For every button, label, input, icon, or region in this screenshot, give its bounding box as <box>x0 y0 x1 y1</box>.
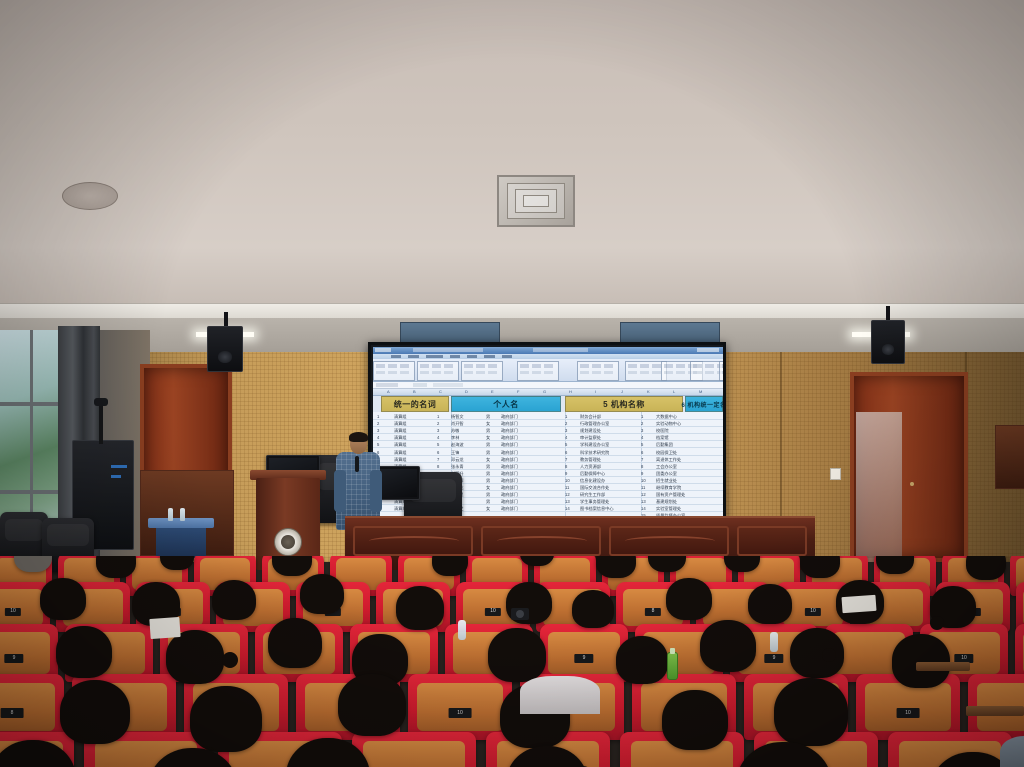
ribbon-control[interactable] <box>388 364 397 368</box>
audience-member-head <box>966 556 1006 580</box>
cell[interactable]: 清算组 <box>394 420 407 427</box>
ceiling <box>0 0 1024 330</box>
ribbon-control[interactable] <box>722 364 723 368</box>
cell[interactable]: 国有资产管理处 <box>656 491 685 498</box>
cell[interactable]: 2 <box>437 420 439 427</box>
light-switch[interactable] <box>830 468 841 480</box>
cell[interactable]: 科学技术研究院 <box>580 449 609 456</box>
ribbon-control[interactable] <box>693 364 702 368</box>
auditorium-seat[interactable] <box>352 732 476 767</box>
cell[interactable]: 11 <box>641 484 645 491</box>
cell[interactable]: 12 <box>641 491 646 498</box>
cell[interactable]: 7 <box>437 456 439 463</box>
audience-member-head <box>300 574 344 614</box>
notebook-paper <box>149 617 180 639</box>
cell[interactable]: 男 <box>486 441 490 448</box>
excel-title-bar <box>373 347 723 354</box>
camera-device[interactable] <box>511 608 529 620</box>
column-letter[interactable]: C <box>439 389 442 395</box>
audience-member-head <box>212 580 256 620</box>
seat-number-plate: 9 <box>764 654 783 663</box>
cell[interactable]: 肖开智 <box>451 420 464 427</box>
ribbon-control[interactable] <box>488 371 497 374</box>
cell[interactable]: 清算组 <box>394 427 407 434</box>
cell[interactable]: 审计监察处 <box>580 434 601 441</box>
cell[interactable]: 政府部门 <box>501 491 518 498</box>
cell[interactable]: 基建规划处 <box>656 498 677 505</box>
audience-member-head <box>160 556 194 570</box>
seat-back-pad <box>0 683 55 732</box>
cell[interactable]: 张永青 <box>451 463 464 470</box>
water-bottle-seat-2 <box>770 632 778 652</box>
door-glass-panel <box>856 412 902 562</box>
ribbon-control[interactable] <box>628 364 637 368</box>
ribbon-control[interactable] <box>664 364 673 368</box>
right-shelf <box>995 425 1024 489</box>
cell[interactable]: 校园保卫处 <box>656 449 677 456</box>
cell[interactable]: 3 <box>565 427 567 434</box>
cell[interactable]: 7 <box>641 456 643 463</box>
seat-back-pad <box>417 683 502 732</box>
seat-number-plate: 8 <box>1 708 24 718</box>
ribbon-tab-6[interactable] <box>502 355 512 358</box>
cell[interactable]: 4 <box>437 434 439 441</box>
seat-number-plate: 9 <box>4 654 23 663</box>
ribbon-control[interactable] <box>604 371 613 374</box>
ribbon-control[interactable] <box>432 371 441 374</box>
ribbon-control[interactable] <box>544 364 553 368</box>
cell[interactable]: 政府部门 <box>501 484 518 491</box>
ribbon-control[interactable] <box>420 371 429 374</box>
cell[interactable]: 9 <box>565 470 567 477</box>
ribbon-control[interactable] <box>664 371 673 374</box>
notebook-paper-2 <box>841 595 876 613</box>
cell[interactable]: 5 <box>641 441 643 448</box>
cell[interactable]: 招生就业处 <box>656 477 677 484</box>
seat-back-pad <box>865 683 950 732</box>
column-header-row[interactable]: ABCDEFGHIJKLM <box>373 389 723 396</box>
cell[interactable]: 女 <box>486 434 490 441</box>
seat-back-pad <box>548 632 620 675</box>
auditorium-seat[interactable]: 10 <box>408 674 512 740</box>
auditorium-seat[interactable]: 8 <box>0 674 64 740</box>
cell[interactable]: 4 <box>641 434 643 441</box>
desk-carving-3 <box>625 536 715 546</box>
ribbon-control[interactable] <box>580 371 589 374</box>
audience-member-head <box>268 618 322 668</box>
cell[interactable]: 实验动物中心 <box>656 420 681 427</box>
audience-member-head <box>892 634 950 688</box>
seat-back-pad <box>0 632 50 675</box>
cell[interactable]: 学生事务管理处 <box>580 498 609 505</box>
column-letter[interactable]: D <box>465 389 468 395</box>
formula-bar[interactable] <box>373 382 723 389</box>
cell[interactable]: 男 <box>486 498 490 505</box>
ribbon-control[interactable] <box>705 364 714 368</box>
cell[interactable]: 8 <box>437 463 439 470</box>
cell[interactable]: 政府部门 <box>501 413 518 420</box>
category-header-1: 个人名 <box>451 396 561 412</box>
cell[interactable]: 政府部门 <box>501 434 518 441</box>
column-letter[interactable]: H <box>569 389 572 395</box>
audience-member-head <box>666 578 712 620</box>
cell[interactable]: 10 <box>565 477 570 484</box>
column-letter[interactable]: I <box>595 389 596 395</box>
ribbon-control[interactable] <box>722 371 723 374</box>
cell[interactable]: 8 <box>641 463 643 470</box>
audience-member-head <box>774 678 848 746</box>
seat-number-plate: 10 <box>485 608 501 616</box>
cell[interactable]: 王锋 <box>451 449 459 456</box>
hair-bun <box>822 648 836 662</box>
cell[interactable]: 政府部门 <box>501 441 518 448</box>
audience-member-head <box>662 690 728 750</box>
cell[interactable]: 女 <box>486 484 490 491</box>
cell[interactable]: 政府部门 <box>501 470 518 477</box>
column-letter[interactable]: L <box>673 389 675 395</box>
category-header-2: 5 机构名称 <box>565 396 683 412</box>
cell[interactable]: 5 <box>437 441 439 448</box>
cell[interactable]: 信息化建设办 <box>580 477 605 484</box>
cell[interactable]: 男 <box>486 477 490 484</box>
cell[interactable]: 男 <box>486 491 490 498</box>
cell[interactable]: 人力资源部 <box>580 463 601 470</box>
ribbon-control[interactable] <box>592 371 601 374</box>
ribbon-control[interactable] <box>693 371 702 374</box>
cell[interactable]: 1 <box>565 413 567 420</box>
cell[interactable]: 继续教育学院 <box>656 484 681 491</box>
presenter-arm-right <box>370 470 382 512</box>
ribbon-control[interactable] <box>476 364 485 368</box>
seat-number-plate: 10 <box>449 708 472 718</box>
seat-armrest <box>916 662 970 671</box>
ribbon-control[interactable] <box>444 364 453 368</box>
cell[interactable]: 6 <box>641 449 643 456</box>
door-right[interactable] <box>850 372 968 562</box>
seat-number-plate: 10 <box>805 608 821 616</box>
cell[interactable]: 1 <box>377 413 379 420</box>
ribbon-control[interactable] <box>532 364 541 368</box>
door-knob-icon[interactable] <box>910 482 914 486</box>
audience-member-head <box>396 586 444 630</box>
cell[interactable]: 男 <box>486 449 490 456</box>
cell[interactable]: 后勤保障中心 <box>580 470 605 477</box>
cell[interactable]: 清算组 <box>394 449 407 456</box>
seat-back-pad <box>363 741 465 767</box>
desk-carving-1 <box>369 536 459 546</box>
presenter-hair <box>349 432 368 442</box>
rack-indicator-1 <box>111 465 127 468</box>
column-letter[interactable]: G <box>543 389 546 395</box>
ribbon-control[interactable] <box>676 364 685 368</box>
side-table-legs <box>156 528 206 558</box>
cell[interactable]: 政府部门 <box>501 505 518 512</box>
cell[interactable]: 团委办公室 <box>656 470 677 477</box>
cell[interactable]: 男 <box>486 470 490 477</box>
ribbon-tab-0[interactable] <box>391 355 401 358</box>
audience-member-shoulders <box>520 676 600 714</box>
cell[interactable]: 9 <box>641 470 643 477</box>
desk-panel-4 <box>737 526 807 556</box>
audience-member-head <box>748 584 792 624</box>
cell[interactable]: 10 <box>641 477 646 484</box>
seat-number-plate: 9 <box>574 654 593 663</box>
ribbon-control[interactable] <box>388 371 397 374</box>
ribbon-control[interactable] <box>676 371 685 374</box>
cell[interactable]: 行政管理办公室 <box>580 420 609 427</box>
presenter-arm-left <box>334 470 346 512</box>
rack-indicator-2 <box>111 475 121 478</box>
cell[interactable]: 图书档案信息中心 <box>580 505 614 512</box>
column-letter[interactable]: M <box>699 389 702 395</box>
ribbon-control[interactable] <box>400 371 409 374</box>
cell[interactable]: 男 <box>486 427 490 434</box>
cell[interactable]: 清算组 <box>394 413 407 420</box>
cell[interactable]: 13 <box>641 498 646 505</box>
column-letter[interactable]: B <box>413 389 416 395</box>
cell[interactable]: 清算组 <box>394 441 407 448</box>
ribbon-control[interactable] <box>532 371 541 374</box>
column-letter[interactable]: F <box>517 389 519 395</box>
ribbon-control[interactable] <box>376 364 385 368</box>
cell[interactable]: 邓云龙 <box>451 456 464 463</box>
ribbon-control[interactable] <box>628 371 637 374</box>
cell[interactable]: 7 <box>565 456 567 463</box>
ribbon-tab-2[interactable] <box>426 355 443 358</box>
cell[interactable]: 政府部门 <box>501 498 518 505</box>
cell[interactable]: 1 <box>437 413 439 420</box>
ribbon-tab-5[interactable] <box>484 355 494 358</box>
ribbon-control[interactable] <box>705 371 714 374</box>
ribbon-control[interactable] <box>652 364 661 368</box>
cell[interactable]: 女 <box>486 456 490 463</box>
ribbon-control[interactable] <box>432 364 441 368</box>
ceiling-air-vent-icon <box>497 175 575 227</box>
water-bottle-table-2 <box>180 508 185 521</box>
handheld-microphone[interactable] <box>355 456 359 472</box>
column-letter[interactable]: K <box>647 389 650 395</box>
cell[interactable]: 实验室管理处 <box>656 505 681 512</box>
green-drink-bottle <box>667 652 678 680</box>
ribbon-control[interactable] <box>544 371 553 374</box>
ribbon-tab-1[interactable] <box>408 355 418 358</box>
ribbon-control[interactable] <box>580 364 589 368</box>
ribbon-control[interactable] <box>640 364 649 368</box>
cell[interactable]: 赵海波 <box>451 441 464 448</box>
audience-member-head <box>40 578 86 620</box>
cell[interactable]: 学科建设办公室 <box>580 441 609 448</box>
cell[interactable]: 12 <box>565 491 570 498</box>
cell[interactable]: 政府部门 <box>501 463 518 470</box>
cell[interactable]: 男 <box>486 413 490 420</box>
audience-member-head <box>596 556 636 578</box>
cell[interactable]: 3 <box>377 427 379 434</box>
excel-ribbon[interactable] <box>373 359 723 382</box>
ribbon-control[interactable] <box>444 371 453 374</box>
cell[interactable]: 财务会计部 <box>580 413 601 420</box>
cell[interactable]: 4 <box>565 434 567 441</box>
ribbon-control[interactable] <box>476 371 485 374</box>
seat-armrest-2 <box>966 706 1024 716</box>
cell[interactable]: 2 <box>377 420 379 427</box>
cell[interactable]: 政府部门 <box>501 456 518 463</box>
desk-carving-2 <box>497 536 587 546</box>
cell[interactable]: 女 <box>486 420 490 427</box>
cell[interactable]: 政府部门 <box>501 477 518 484</box>
microphone-stand <box>99 404 103 444</box>
audience-member-head <box>700 620 756 672</box>
cell[interactable]: 男 <box>486 463 490 470</box>
university-seal-icon <box>274 528 302 556</box>
cell[interactable]: 离退休工作处 <box>656 456 681 463</box>
cell[interactable]: 清算组 <box>394 456 407 463</box>
water-bottle-table-1 <box>168 508 173 521</box>
cell[interactable]: 14 <box>641 505 646 512</box>
cell[interactable]: 5 <box>377 441 379 448</box>
category-header-3: 6 机构统一定名 <box>685 396 723 412</box>
cell[interactable]: 6 <box>437 449 439 456</box>
cell[interactable]: 1 <box>641 413 643 420</box>
cell[interactable]: 李林 <box>451 434 459 441</box>
ribbon-control[interactable] <box>520 371 529 374</box>
audience-member-head <box>96 556 136 578</box>
water-bottle-seat <box>458 620 466 640</box>
ceiling-speaker-grille-icon <box>62 182 118 210</box>
cell[interactable]: 女 <box>486 505 490 512</box>
cell[interactable]: 政府部门 <box>501 449 518 456</box>
ribbon-control[interactable] <box>400 364 409 368</box>
cell[interactable]: 3 <box>437 427 439 434</box>
ribbon-control[interactable] <box>488 364 497 368</box>
audience-member-head <box>800 556 840 578</box>
ceiling-speaker-right <box>871 320 905 364</box>
ribbon-control[interactable] <box>376 371 385 374</box>
ribbon-control[interactable] <box>652 371 661 374</box>
cell[interactable]: 清算组 <box>394 434 407 441</box>
column-letter[interactable]: J <box>621 389 623 395</box>
audience-member-head <box>56 626 112 678</box>
audience-seating: 1081010810109910991081010810 <box>0 556 1024 767</box>
audience-member-head <box>60 680 130 744</box>
seat-number-plate: 10 <box>897 708 920 718</box>
ribbon-tab-3[interactable] <box>450 355 460 358</box>
column-letter[interactable]: A <box>387 389 390 395</box>
ribbon-control[interactable] <box>464 371 473 374</box>
cell[interactable]: 国际交流合作处 <box>580 484 609 491</box>
cell[interactable]: 11 <box>565 484 569 491</box>
window-mullion-h2 <box>0 490 66 494</box>
ribbon-control[interactable] <box>640 371 649 374</box>
seat-number-plate: 8 <box>645 608 661 616</box>
cell[interactable]: 工会办公室 <box>656 463 677 470</box>
cell[interactable]: 苏敏 <box>451 427 459 434</box>
cell[interactable]: 6 <box>565 449 567 456</box>
ribbon-control[interactable] <box>604 364 613 368</box>
seat-number-plate: 10 <box>5 608 21 616</box>
seat-back-pad <box>0 589 43 626</box>
ribbon-control[interactable] <box>420 364 429 368</box>
cell[interactable]: 14 <box>565 505 570 512</box>
cell[interactable]: 2 <box>565 420 567 427</box>
cell[interactable]: 大数据中心 <box>656 413 677 420</box>
cell[interactable]: 教务管理处 <box>580 456 601 463</box>
ribbon-control[interactable] <box>520 364 529 368</box>
cell[interactable]: 杨智文 <box>451 413 464 420</box>
audience-member-head <box>190 686 262 752</box>
cell[interactable]: 规划建设处 <box>580 427 601 434</box>
cell[interactable]: 校医院 <box>656 427 669 434</box>
hair-bun <box>930 616 944 630</box>
cell[interactable]: 3 <box>641 427 643 434</box>
audience-member-head <box>166 630 224 684</box>
cell[interactable]: 研究生工作部 <box>580 491 605 498</box>
cell[interactable]: 4 <box>377 434 379 441</box>
ribbon-control[interactable] <box>464 364 473 368</box>
cell[interactable]: 政府部门 <box>501 427 518 434</box>
cell[interactable]: 2 <box>641 420 643 427</box>
column-letter[interactable]: E <box>491 389 494 395</box>
cell[interactable]: 13 <box>565 498 570 505</box>
cell[interactable]: 5 <box>565 441 567 448</box>
audience-member-head <box>488 628 546 682</box>
audience-member-head <box>432 556 468 576</box>
ribbon-tab-4[interactable] <box>467 355 477 358</box>
audience-member-head <box>572 590 614 628</box>
hair-bun <box>388 704 406 722</box>
hair-bun <box>222 652 238 668</box>
cell[interactable]: 后勤集团 <box>656 441 673 448</box>
window-mullion-h <box>0 402 66 406</box>
cell[interactable]: 政府部门 <box>501 420 518 427</box>
cell[interactable]: 8 <box>565 463 567 470</box>
lecture-hall-photo: ABCDEFGHIJKLM 统一的名词个人名5 机构名称6 机构统一定名 1清算… <box>0 0 1024 767</box>
ribbon-control[interactable] <box>592 364 601 368</box>
category-header-0: 统一的名词 <box>381 396 449 412</box>
audience-member-head <box>616 636 668 684</box>
ceiling-speaker-left <box>207 326 243 372</box>
cell[interactable]: 档案馆 <box>656 434 669 441</box>
category-header-row: 统一的名词个人名5 机构名称6 机构统一定名 <box>373 396 723 412</box>
